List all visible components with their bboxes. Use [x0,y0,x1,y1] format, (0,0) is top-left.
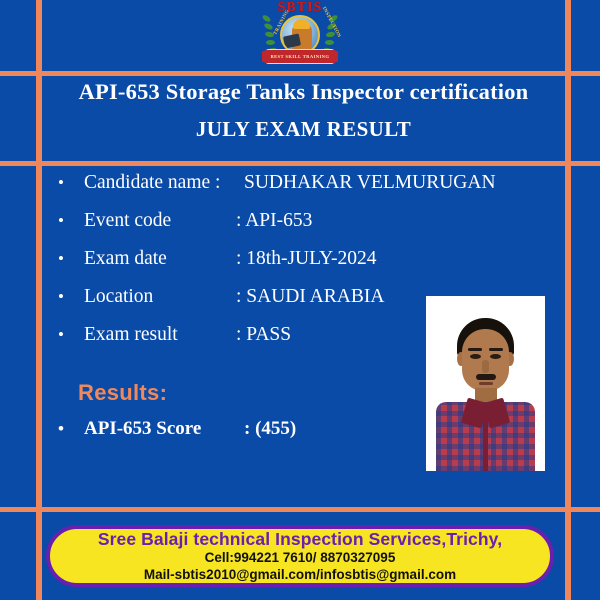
footer-company-name: Sree Balaji technical Inspection Service… [98,529,502,549]
detail-label: Exam result [84,324,236,346]
frame-line-horizontal-bottom [0,507,600,512]
logo-ribbon: BEST SKILL TRAINING [262,49,338,64]
logo-ribbon-text: BEST SKILL TRAINING [271,54,330,59]
bullet-icon [58,212,84,229]
detail-row-event-code: Event code : API-653 [58,210,558,248]
results-score-row: API-653 Score : (455) [58,418,296,440]
results-score-label: API-653 Score [84,418,244,440]
detail-label: Event code [84,210,236,232]
candidate-photo-figure [426,296,545,471]
detail-label: Candidate name : [84,172,244,194]
results-score-value: : (455) [244,418,296,440]
detail-value: SUDHAKAR VELMURUGAN [244,172,496,194]
results-heading: Results: [78,380,167,406]
footer-contact-banner: Sree Balaji technical Inspection Service… [46,525,554,587]
bullet-icon [58,326,84,343]
detail-label: Exam date [84,248,236,270]
logo-container: SBTIS TRAINING INSPECTION [0,2,600,64]
detail-label: Location [84,286,236,308]
detail-value: : 18th-JULY-2024 [236,248,377,270]
bullet-icon [58,288,84,305]
bullet-icon [58,250,84,267]
sbtis-logo: SBTIS TRAINING INSPECTION [248,2,352,62]
bullet-icon [58,420,84,437]
detail-value: : API-653 [236,210,312,232]
footer-phone: Cell:994221 7610/ 8870327095 [205,549,396,566]
page-subtitle: JULY EXAM RESULT [42,117,565,142]
result-poster: SBTIS TRAINING INSPECTION [0,0,600,600]
footer-email: Mail-sbtis2010@gmail.com/infosbtis@gmail… [144,566,456,583]
frame-line-horizontal-middle [0,161,600,166]
candidate-photo [426,296,545,471]
bullet-icon [58,174,84,191]
detail-value: : SAUDI ARABIA [236,286,384,308]
detail-row-candidate-name: Candidate name : SUDHAKAR VELMURUGAN [58,172,558,210]
title-block: API-653 Storage Tanks Inspector certific… [42,72,565,161]
detail-row-exam-date: Exam date : 18th-JULY-2024 [58,248,558,286]
page-title: API-653 Storage Tanks Inspector certific… [42,79,565,105]
detail-value: : PASS [236,324,291,346]
